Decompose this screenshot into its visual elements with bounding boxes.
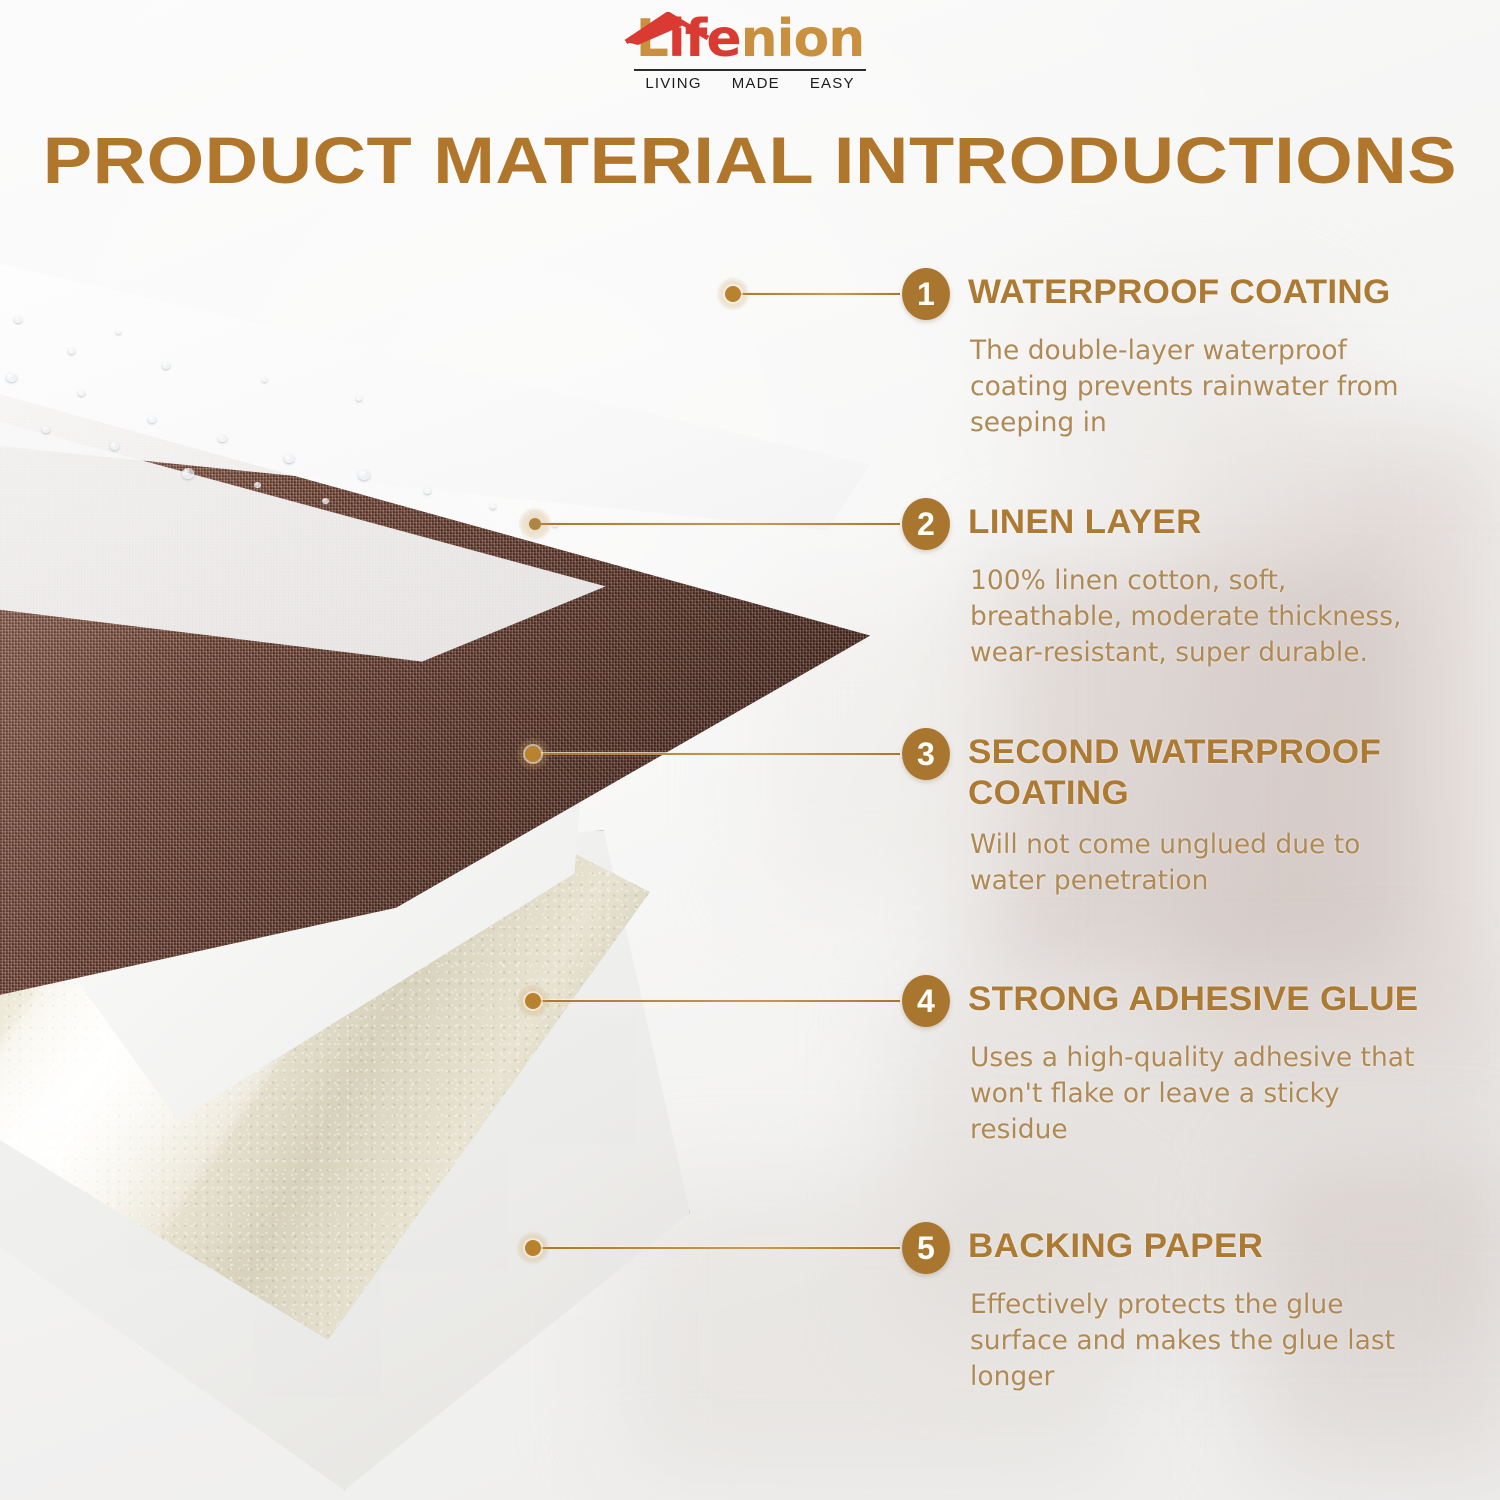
brand-letters-nion: nion (741, 9, 865, 69)
callout-leader-line (535, 523, 900, 525)
callout-item-5[interactable]: 5BACKING PAPEREffectively protects the g… (900, 1222, 1460, 1395)
callout-anchor-dot[interactable] (516, 1231, 550, 1265)
brand-letters-ife: ife (668, 9, 741, 69)
callout-item-1[interactable]: 1WATERPROOF COATINGThe double-layer wate… (900, 268, 1460, 441)
callout-leader-line (533, 1247, 900, 1249)
callout-anchor-dot[interactable] (516, 737, 550, 771)
brand-tagline: LIVING MADE EASY (645, 75, 854, 92)
tagline-word-easy: EASY (810, 75, 855, 92)
callout-header: 1WATERPROOF COATING (900, 268, 1460, 320)
callout-header: 4STRONG ADHESIVE GLUE (900, 975, 1460, 1027)
callout-header: 3SECOND WATERPROOF COATING (900, 728, 1460, 814)
material-layer-stack-illustration (0, 230, 920, 1500)
callout-number: 4 (917, 975, 935, 1027)
callout-number-badge: 5 (902, 1222, 950, 1274)
callout-description: The double-layer waterproof coating prev… (970, 333, 1440, 441)
infographic-canvas: Lifenion LIVING MADE EASY PRODUCT MATERI… (0, 0, 1500, 1500)
brand-letter-l: L (636, 9, 668, 69)
callout-number-badge: 1 (902, 268, 950, 320)
brand-divider (634, 69, 866, 71)
callout-title: BACKING PAPER (968, 1226, 1263, 1267)
callout-leader-line (533, 1000, 900, 1002)
callout-title: SECOND WATERPROOF COATING (968, 732, 1475, 814)
callout-number: 2 (917, 498, 935, 550)
callout-leader-line (533, 753, 900, 755)
callout-item-2[interactable]: 2LINEN LAYER100% linen cotton, soft, bre… (900, 498, 1460, 671)
tagline-word-made: MADE (732, 75, 780, 92)
callout-description: Uses a high-quality adhesive that won't … (970, 1040, 1440, 1148)
brand-logo: Lifenion LIVING MADE EASY (0, 10, 1500, 110)
callout-title: WATERPROOF COATING (968, 272, 1391, 313)
callout-leader-line (733, 293, 900, 295)
callout-anchor-dot[interactable] (518, 507, 552, 541)
brand-wordmark: Lifenion (630, 10, 870, 68)
callout-number-badge: 3 (902, 728, 950, 780)
callout-number-badge: 2 (902, 498, 950, 550)
callout-anchor-dot[interactable] (716, 277, 750, 311)
callout-description: Will not come unglued due to water penet… (970, 827, 1440, 899)
callout-title: STRONG ADHESIVE GLUE (968, 979, 1418, 1020)
callout-number: 3 (917, 728, 935, 780)
tagline-word-living: LIVING (645, 75, 701, 92)
callout-number: 5 (917, 1222, 935, 1274)
callout-title: LINEN LAYER (968, 502, 1202, 543)
callout-number: 1 (917, 268, 935, 320)
callout-header: 5BACKING PAPER (900, 1222, 1460, 1274)
callout-header: 2LINEN LAYER (900, 498, 1460, 550)
water-droplet (490, 504, 496, 509)
callout-description: 100% linen cotton, soft, breathable, mod… (970, 563, 1440, 671)
callout-item-3[interactable]: 3SECOND WATERPROOF COATINGWill not come … (900, 728, 1460, 899)
page-title: PRODUCT MATERIAL INTRODUCTIONS (0, 122, 1500, 198)
callout-item-4[interactable]: 4STRONG ADHESIVE GLUEUses a high-quality… (900, 975, 1460, 1148)
callout-description: Effectively protects the glue surface an… (970, 1287, 1440, 1395)
callout-anchor-dot[interactable] (516, 984, 550, 1018)
callout-number-badge: 4 (902, 975, 950, 1027)
